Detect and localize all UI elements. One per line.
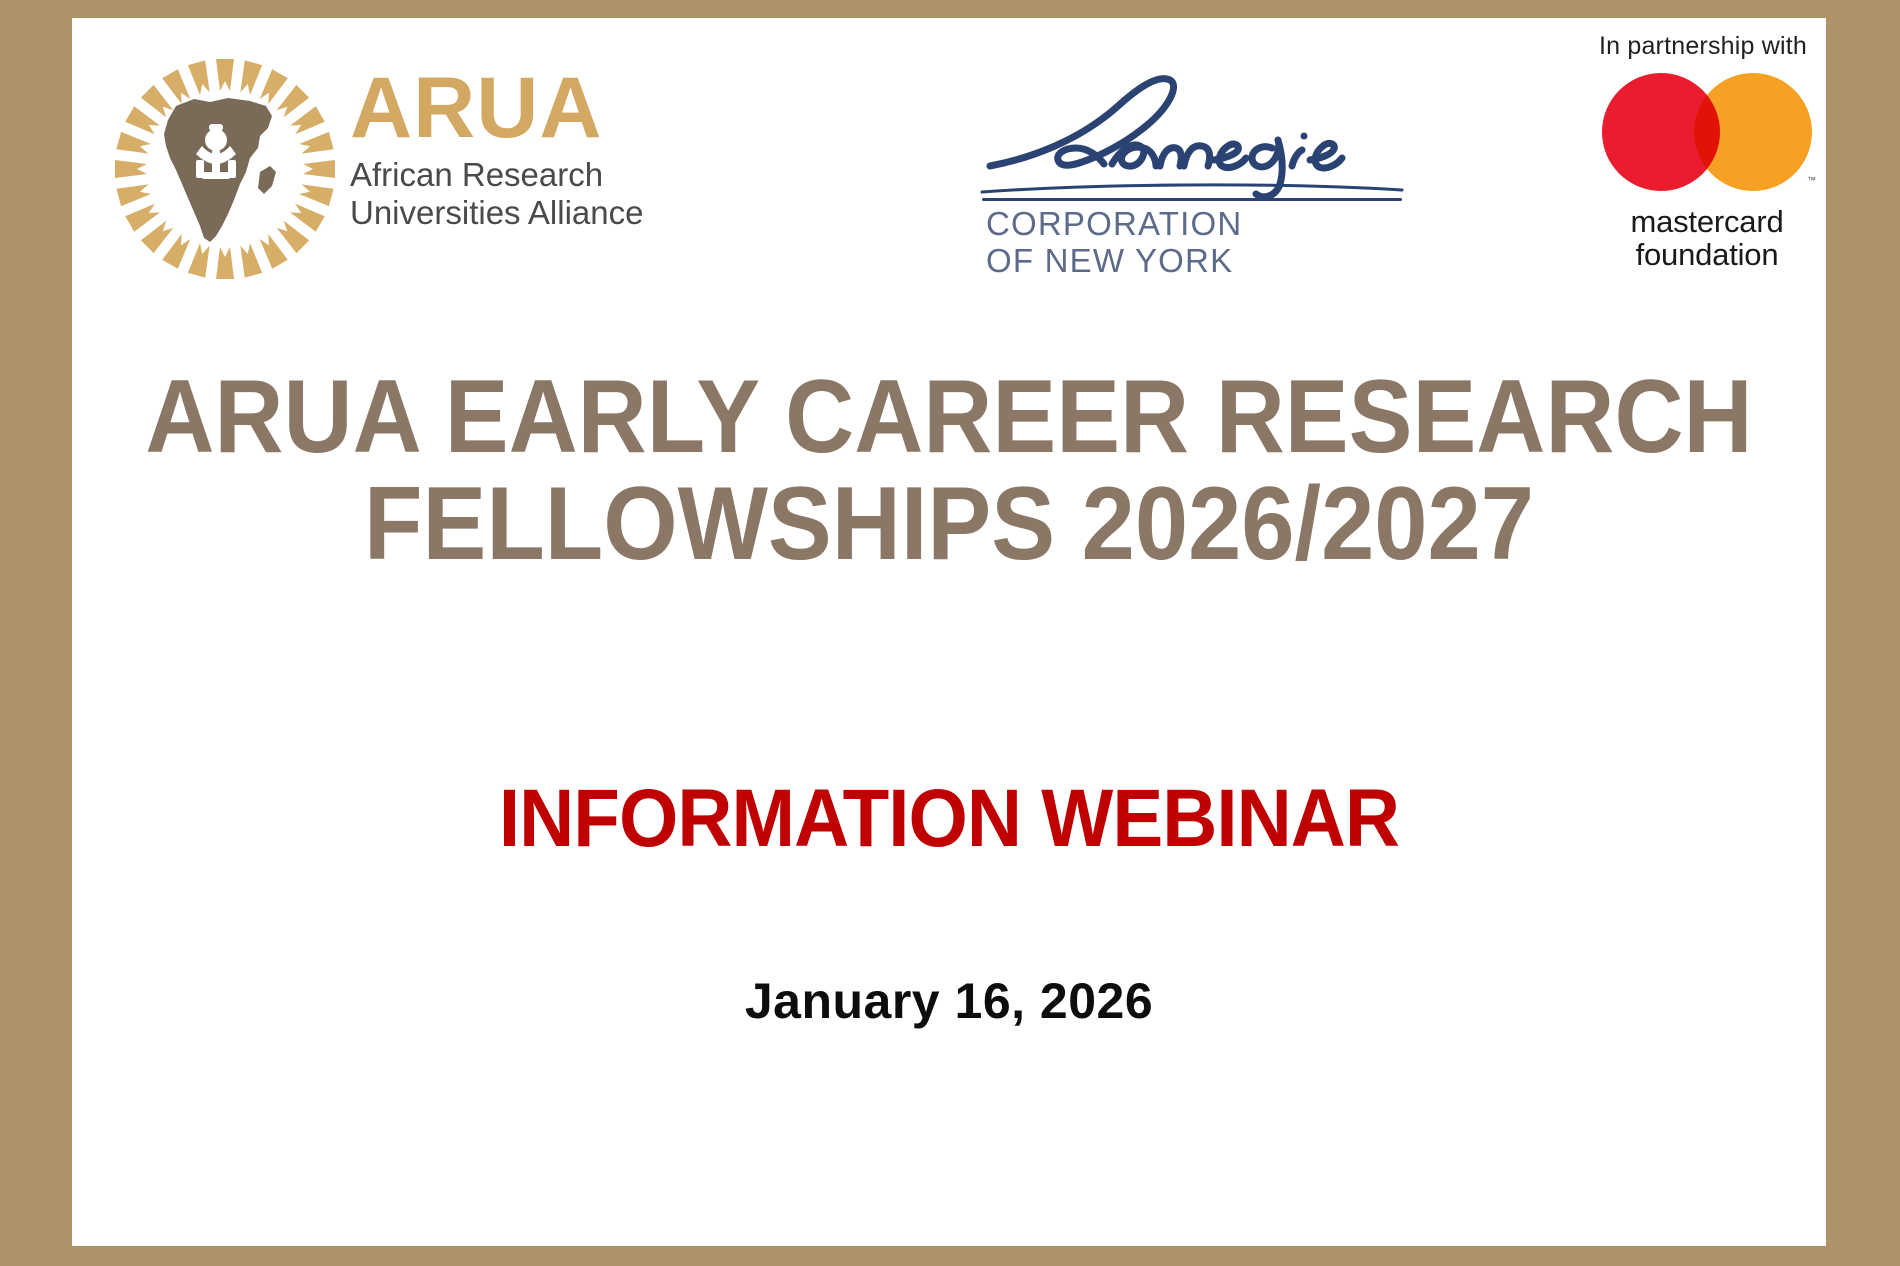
- carnegie-corporation-logo: CORPORATION OF NEW YORK: [972, 70, 1432, 290]
- carnegie-subtitle: CORPORATION OF NEW YORK: [986, 206, 1242, 280]
- trademark-mark: ™: [1807, 175, 1816, 185]
- slide-card: ARUA African Research Universities Allia…: [72, 18, 1826, 1246]
- mastercard-foundation-wordmark: mastercard foundation: [1587, 205, 1827, 272]
- carnegie-script-wordmark-icon: [972, 70, 1432, 200]
- event-date: January 16, 2026: [72, 976, 1826, 1026]
- page-title-line1: ARUA EARLY CAREER RESEARCH: [142, 368, 1756, 467]
- subtitle-information-webinar: INFORMATION WEBINAR: [133, 778, 1764, 860]
- logo-row: ARUA African Research Universities Allia…: [72, 18, 1826, 318]
- arua-tagline: African Research Universities Alliance: [350, 156, 710, 233]
- carnegie-subtitle-line1: CORPORATION: [986, 206, 1242, 243]
- page-title: ARUA EARLY CAREER RESEARCH FELLOWSHIPS 2…: [142, 368, 1756, 574]
- arua-tagline-line2: Universities Alliance: [350, 194, 710, 232]
- mastercard-wordmark-line2: foundation: [1587, 238, 1827, 271]
- arua-logo: ARUA African Research Universities Allia…: [92, 46, 712, 291]
- partnership-label: In partnership with: [1579, 32, 1827, 61]
- carnegie-divider: [982, 198, 1402, 201]
- carnegie-subtitle-line2: OF NEW YORK: [986, 243, 1242, 280]
- mastercard-wordmark-line1: mastercard: [1587, 205, 1827, 238]
- mastercard-circles-icon: ™: [1602, 73, 1812, 191]
- africa-sunburst-emblem-icon: [110, 54, 340, 284]
- arua-wordmark: ARUA African Research Universities Allia…: [350, 68, 710, 232]
- mastercard-amber-circle: [1694, 73, 1812, 191]
- arua-tagline-line1: African Research: [350, 156, 710, 194]
- page-title-line2: FELLOWSHIPS 2026/2027: [142, 475, 1756, 574]
- slide-frame: ARUA African Research Universities Allia…: [0, 0, 1900, 1266]
- arua-acronym: ARUA: [350, 68, 710, 150]
- mastercard-foundation-logo: In partnership with ™ mastercard foundat…: [1587, 32, 1827, 312]
